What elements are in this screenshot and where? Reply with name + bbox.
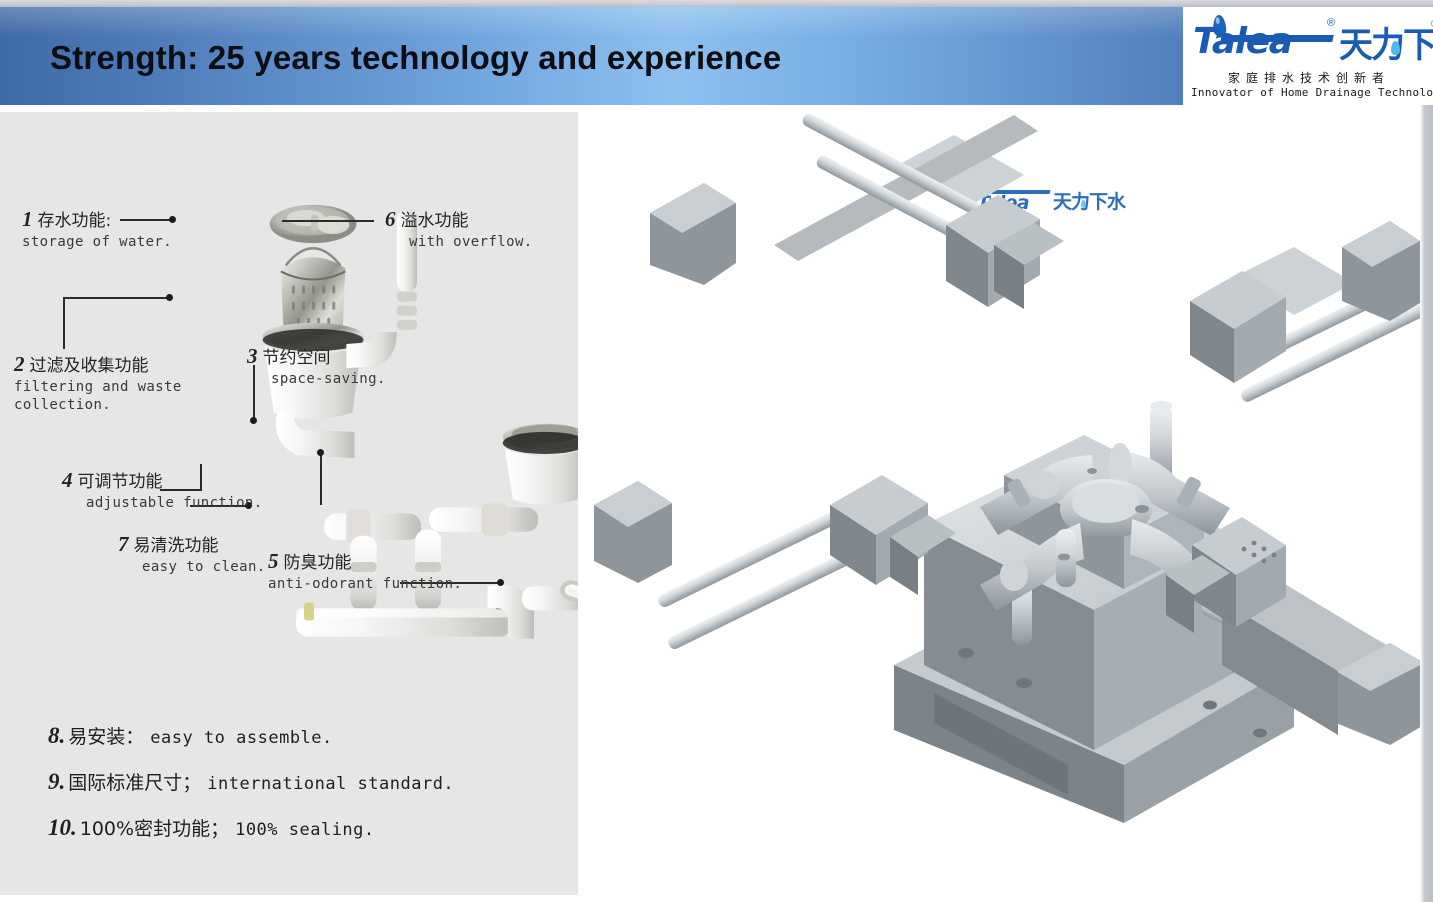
list-item-8-sep: . [60,723,66,748]
leader-line-6 [282,220,374,222]
logo-latin-wordmark: Talea [1193,21,1292,62]
list-item-9-cn: 国际标准尺寸； [68,772,201,794]
callout-3-en: space-saving. [271,371,386,387]
callout-4: 4可调节功能 adjustable function. [62,467,263,511]
callout-5-number: 5 [268,549,279,573]
callout-5: 5防臭功能 anti-odorant function. [268,548,462,592]
list-item: 10.100%密封功能；100% sealing. [48,814,568,841]
feature-list: 8.易安装：easy to assemble. 9.国际标准尺寸；interna… [48,722,568,860]
callout-2-en: filtering and waste [14,379,182,395]
small-water-drop-icon [1391,41,1400,55]
callout-6: 6溢水功能 with overflow. [385,206,533,250]
callout-7-cn: 易清洗功能 [134,536,219,556]
product-diagram-panel: 1存水功能: storage of water. 2过滤及收集功能 filter… [0,112,578,895]
list-item-9-number: 9 [48,769,60,794]
callout-2-en2: collection. [14,397,182,413]
leader-dot-5 [317,449,324,456]
logo-chinese-wordmark: 天力下水 [1339,17,1433,68]
callout-6-en: with overflow. [409,234,533,250]
callout-1-cn: 存水功能: [38,211,112,231]
callout-2-number: 2 [14,352,25,376]
callout-5-en: anti-odorant function. [268,576,462,592]
mold-render-panel: Talea 天力下水 [584,105,1420,895]
callout-6-cn: 溢水功能 [401,211,469,231]
page-title: Strength: 25 years technology and experi… [50,39,781,77]
callout-7-number: 7 [118,532,129,556]
callout-4-en: adjustable function. [86,495,263,511]
callout-7: 7易清洗功能 easy to clean. [118,531,266,575]
callout-4-number: 4 [62,468,73,492]
registered-mark-icon: ® [1327,17,1335,29]
leader-dot-5b [497,579,504,586]
callout-1-number: 1 [22,207,33,231]
logo-tagline-en: Innovator of Home Drainage Technology [1191,86,1427,99]
callout-2: 2过滤及收集功能 filtering and waste collection. [14,351,182,413]
list-item-10-en: 100% sealing. [235,820,375,840]
list-item-10-number: 10 [48,815,71,840]
injection-mold-render [584,105,1420,895]
logo-tagline-cn: 家庭排水技术创新者 [1197,69,1421,86]
callout-1: 1存水功能: storage of water. [22,206,172,250]
callout-4-cn: 可调节功能 [78,472,163,492]
list-item-10-cn: 100%密封功能； [80,818,229,840]
callout-5-cn: 防臭功能 [284,553,352,573]
callout-2-cn: 过滤及收集功能 [30,356,149,376]
list-item-10-sep: . [71,815,77,840]
callout-1-en: storage of water. [22,234,172,250]
callout-3-cn: 节约空间 [263,348,331,368]
window-top-chrome [0,0,1433,7]
list-item-9-en: international standard. [207,774,454,794]
callout-3: 3节约空间 space-saving. [247,343,386,387]
leader-line-5-v [320,453,322,505]
list-item-8-cn: 易安装： [68,726,144,748]
list-item: 8.易安装：easy to assemble. [48,722,568,749]
callout-6-number: 6 [385,207,396,231]
logo-wordmark-row: Talea ® 天力下水 ® [1191,15,1427,65]
callout-7-en: easy to clean. [142,559,266,575]
list-item: 9.国际标准尺寸；international standard. [48,768,568,795]
leader-dot-3 [250,417,257,424]
leader-dot-2 [166,294,173,301]
leader-line-2-v [63,297,65,349]
list-item-8-en: easy to assemble. [150,728,333,748]
list-item-9-sep: . [60,769,66,794]
brand-logo: Talea ® 天力下水 ® 家庭排水技术创新者 Innovator of Ho… [1183,7,1433,105]
callout-3-number: 3 [247,344,258,368]
leader-line-2-h [63,297,171,299]
window-right-chrome [1420,105,1433,902]
list-item-8-number: 8 [48,723,60,748]
